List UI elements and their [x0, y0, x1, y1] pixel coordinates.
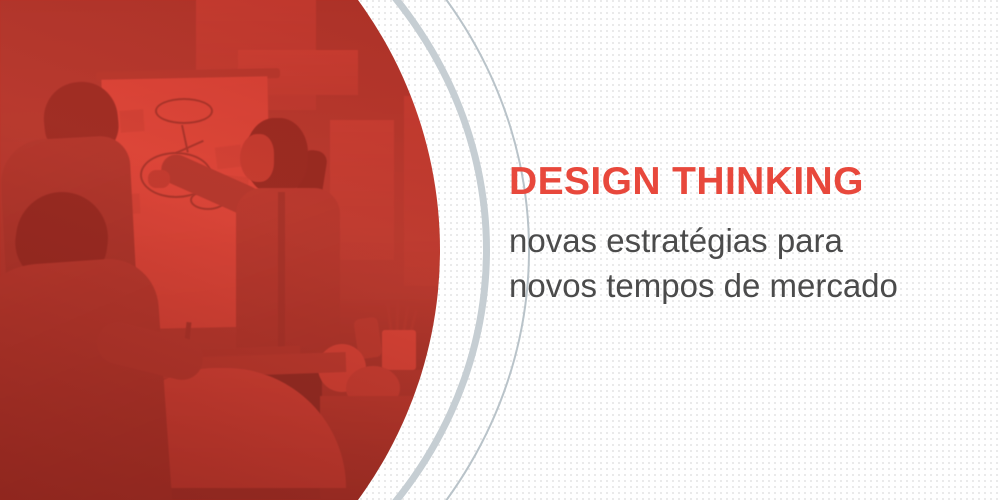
red-vignette: [0, 0, 466, 500]
collaboration-photo: [0, 0, 466, 500]
banner-headline: DESIGN THINKING: [509, 160, 969, 204]
design-thinking-banner: DESIGN THINKING novas estratégias para n…: [0, 0, 1001, 500]
photo-panel: [0, 0, 466, 500]
banner-subtitle-line-1: novas estratégias para: [509, 218, 969, 263]
banner-subtitle: novas estratégias para novos tempos de m…: [509, 218, 969, 308]
banner-subtitle-line-2: novos tempos de mercado: [509, 263, 969, 308]
banner-text-block: DESIGN THINKING novas estratégias para n…: [509, 160, 969, 308]
